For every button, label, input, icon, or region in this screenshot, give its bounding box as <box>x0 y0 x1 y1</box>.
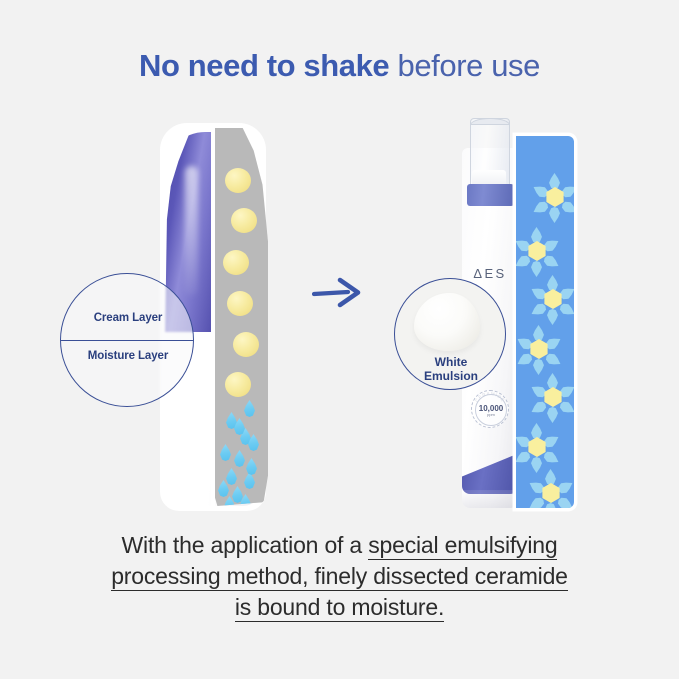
moisture-droplet <box>245 458 258 475</box>
ceramide-particle <box>225 372 251 397</box>
caption-line1-plain: With the application of a <box>122 532 369 558</box>
flower-core <box>543 387 563 407</box>
flower-core <box>527 437 547 457</box>
moisture-droplet <box>243 472 256 489</box>
flower-petal <box>532 325 545 341</box>
flower-petal <box>530 423 543 439</box>
pump-collar <box>467 184 514 206</box>
cutaway-panel-after <box>516 136 574 508</box>
flower-petal <box>546 275 559 291</box>
flower-petal <box>530 261 543 277</box>
callout-emulsion: White Emulsion <box>394 278 506 390</box>
caption-text: With the application of a special emulsi… <box>0 530 679 623</box>
brand-logo: ΔES <box>462 266 518 281</box>
flower-petal <box>546 373 559 389</box>
caption-line3: is bound to moisture. <box>235 594 444 622</box>
white-emulsion-label-line2: Emulsion <box>395 369 506 383</box>
page-title-rest: before use <box>389 48 540 83</box>
flower-petal <box>530 227 543 243</box>
ceramide-flower <box>516 424 560 470</box>
cutaway-panel-edge <box>211 126 215 508</box>
flower-petal <box>546 407 559 423</box>
white-emulsion-label-line1: White <box>395 355 506 369</box>
flower-core <box>527 241 547 261</box>
bottle-bottom-shadow <box>462 490 518 508</box>
moisture-layer-label: Moisture Layer <box>61 350 194 362</box>
ceramide-particle <box>227 291 253 316</box>
ceramide-particle <box>231 208 257 233</box>
ceramide-flower <box>532 174 574 220</box>
cream-layer-label: Cream Layer <box>61 312 194 324</box>
bottle-cap-rim <box>470 118 510 125</box>
flower-petal <box>546 309 559 325</box>
caption-line2: processing method, finely dissected cera… <box>111 563 568 591</box>
transition-arrow <box>312 273 368 313</box>
illustration-stage: Cream Layer Moisture Layer ΔES ATOBA EAM… <box>0 108 679 518</box>
moisture-droplet <box>233 450 246 467</box>
page-title: No need to shake before use <box>0 46 679 86</box>
flower-core <box>543 289 563 309</box>
badge-unit: ppm <box>472 412 510 417</box>
emulsion-drop-shape <box>414 293 480 351</box>
flower-core <box>529 339 549 359</box>
ceramide-flower <box>530 374 574 420</box>
ceramide-flower <box>530 276 574 322</box>
moisture-droplet <box>225 468 238 485</box>
flower-petal <box>532 359 545 375</box>
ceramide-particle <box>233 332 259 357</box>
arrow-right-icon <box>312 273 368 313</box>
callout-divider <box>61 340 194 341</box>
flower-petal <box>548 173 561 189</box>
moisture-droplet <box>243 400 256 417</box>
flower-core <box>545 187 565 207</box>
ceramide-badge: 10,000 ppm <box>471 390 509 428</box>
ceramide-flower <box>516 326 562 372</box>
callout-layers: Cream Layer Moisture Layer <box>60 273 194 407</box>
moisture-droplet <box>219 444 232 461</box>
ceramide-particle <box>225 168 251 193</box>
page-title-emphasis: No need to shake <box>139 48 389 83</box>
flower-core <box>541 483 561 503</box>
infographic-canvas: No need to shake before use Cream Layer … <box>0 0 679 679</box>
ceramide-flower <box>516 228 560 274</box>
caption-line1-underlined: special emulsifying <box>368 532 557 560</box>
ceramide-particle <box>223 250 249 275</box>
flower-petal <box>544 469 557 485</box>
cutaway-panel-before <box>213 128 268 506</box>
cream-layer-highlight <box>185 166 198 296</box>
ceramide-flower <box>528 470 574 508</box>
flower-petal <box>544 503 557 508</box>
flower-petal <box>548 207 561 223</box>
